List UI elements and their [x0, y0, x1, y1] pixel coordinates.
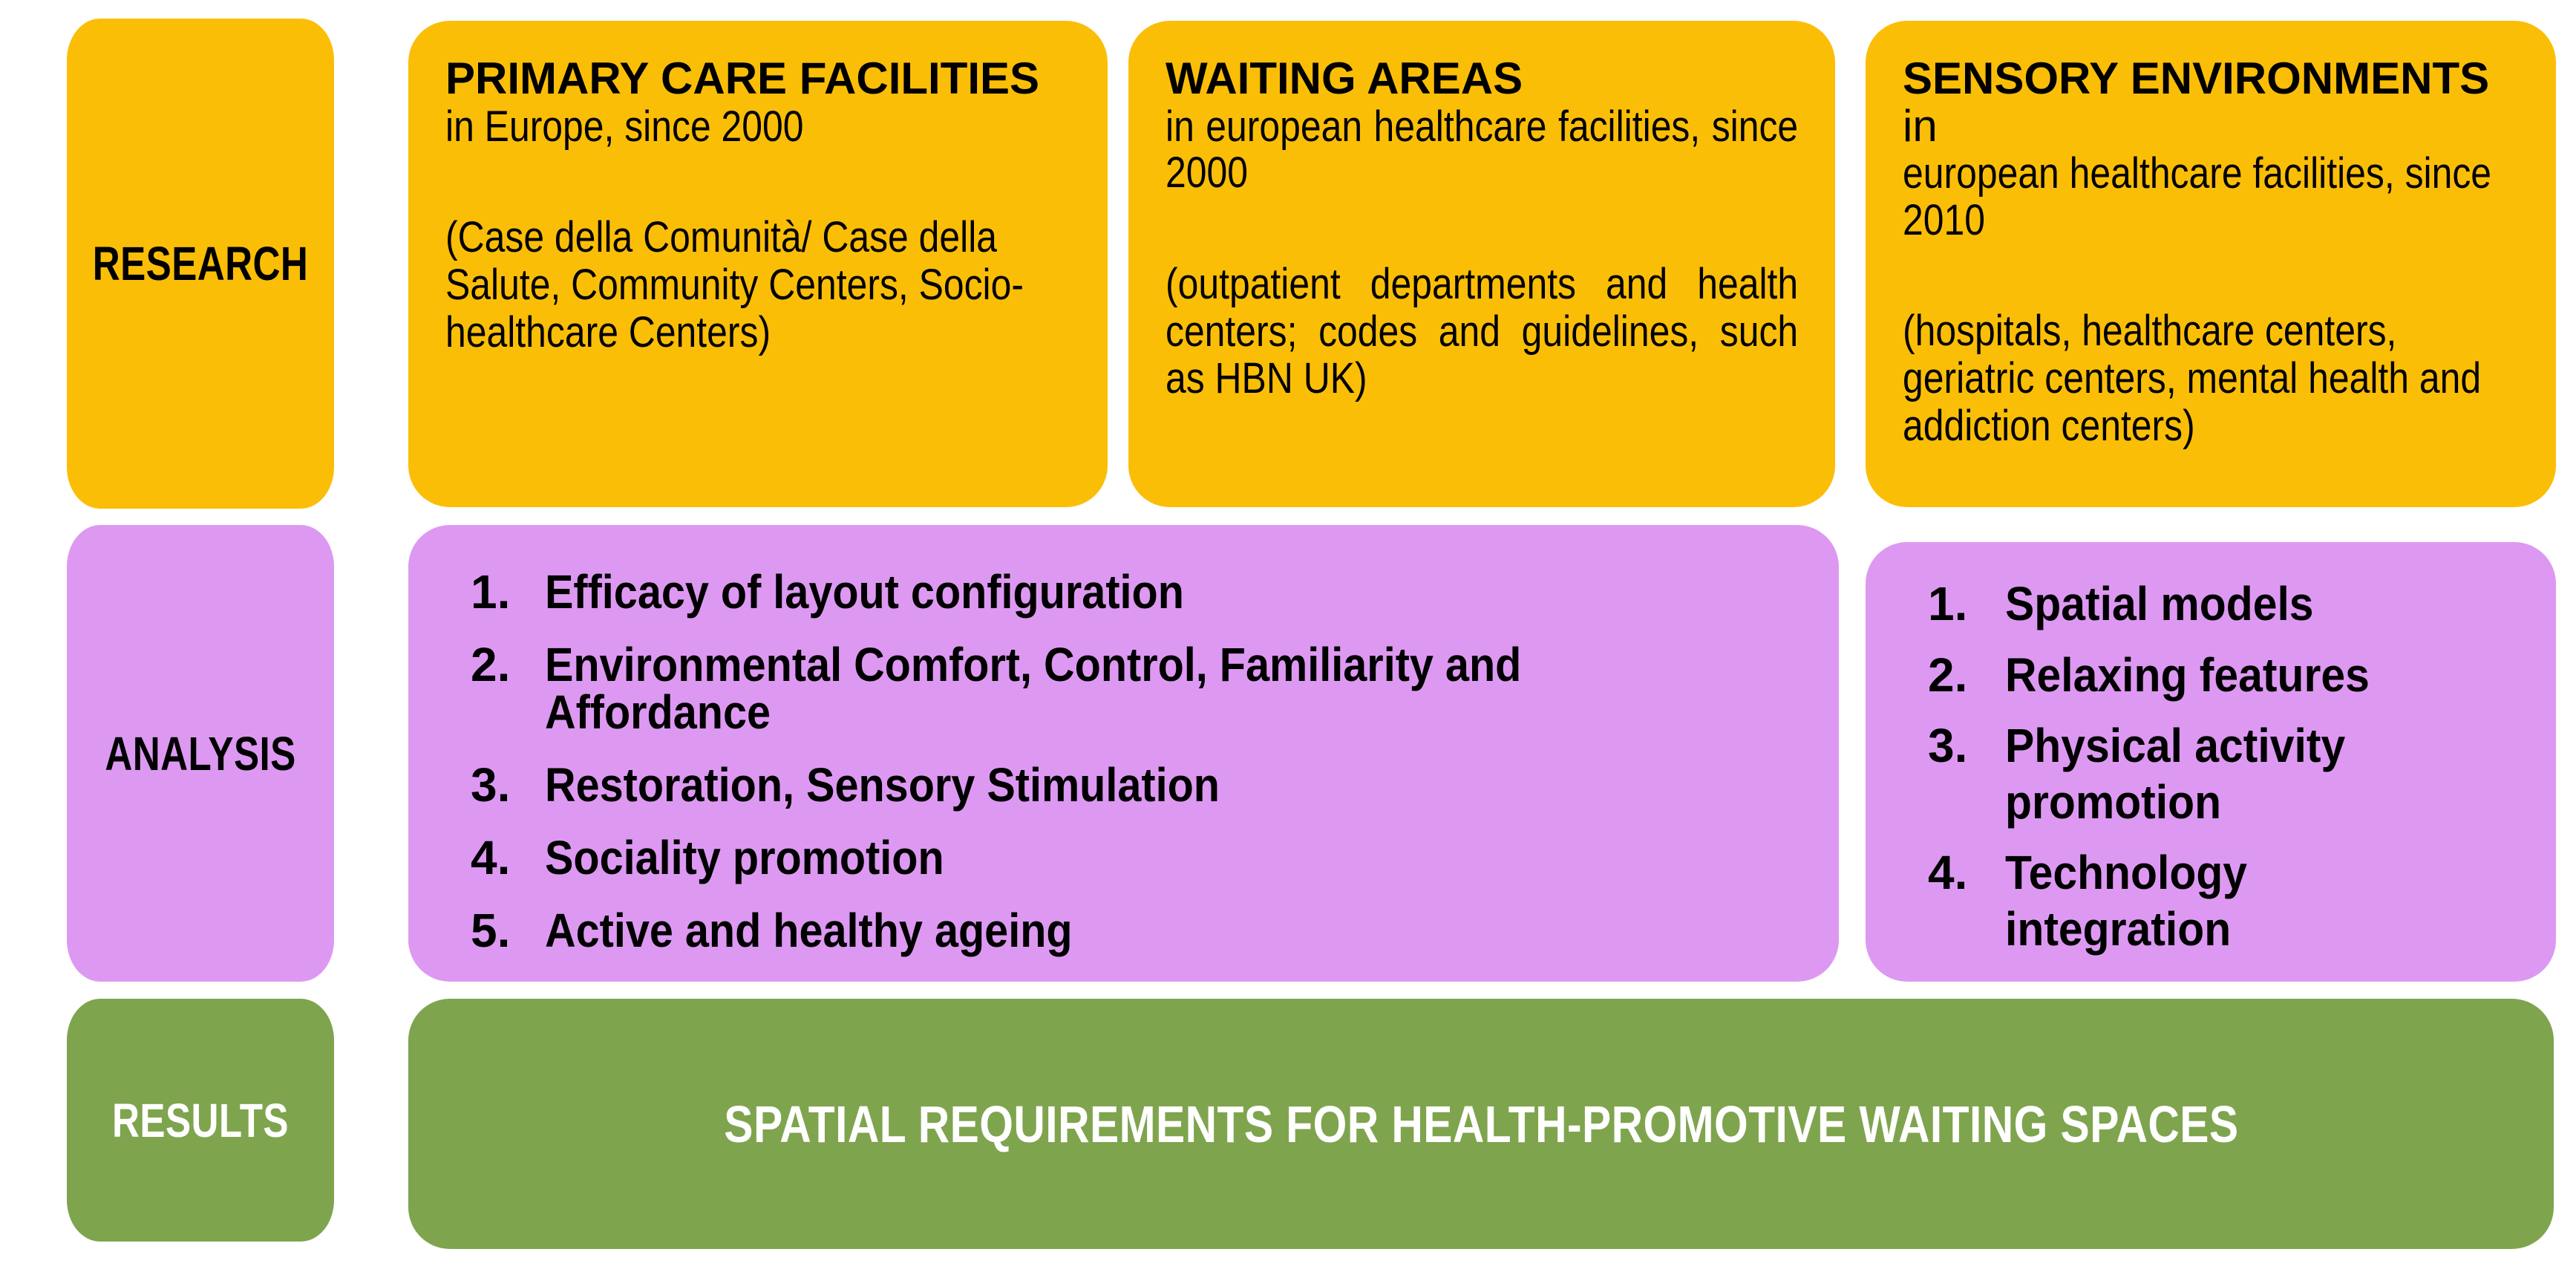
research-subtitle-0: in Europe, since 2000	[445, 104, 1070, 151]
analysis-card-waiting-areas: 1. Efficacy of layout configuration 2. E…	[408, 525, 1839, 982]
list-item-number: 2.	[1928, 648, 2005, 704]
list-item-number: 1.	[471, 568, 545, 616]
stage-label-analysis: ANALYSIS	[67, 525, 334, 982]
research-heading-1: WAITING AREAS	[1166, 55, 1798, 102]
list-item: 3. Physical activity promotion	[1928, 718, 2526, 830]
research-detail-1: (outpatient departments and health cente…	[1166, 261, 1798, 402]
research-card-sensory-environments: SENSORY ENVIRONMENTS in european healthc…	[1866, 21, 2556, 507]
list-item: 4. Technology integration	[1928, 845, 2526, 957]
list-item-number: 4.	[471, 834, 545, 881]
research-detail-0: (Case della Comunità/ Case della Salute,…	[445, 214, 1070, 356]
stage-label-results-text: RESULTS	[112, 1093, 289, 1148]
list-item-number: 5.	[471, 907, 545, 954]
list-item-number: 3.	[1928, 718, 2005, 774]
stage-label-research-text: RESEARCH	[93, 236, 309, 291]
research-detail-2: (hospitals, healthcare centers, geriatri…	[1903, 307, 2519, 449]
list-item-label: Active and healthy ageing	[545, 907, 1670, 954]
stage-label-research: RESEARCH	[67, 19, 334, 509]
list-item-label: Sociality promotion	[545, 834, 1670, 881]
list-item: 1. Efficacy of layout configuration	[471, 568, 1794, 616]
list-item-number: 2.	[471, 641, 545, 688]
process-diagram: RESEARCH PRIMARY CARE FACILITIES in Euro…	[0, 0, 2576, 1272]
list-item-label: Technology integration	[2005, 845, 2485, 957]
analysis-card-sensory-environments: 1. Spatial models 2. Relaxing features 3…	[1866, 542, 2556, 982]
list-item-label: Spatial models	[2005, 576, 2485, 633]
list-item-number: 1.	[1928, 576, 2005, 633]
research-subtitle-1: in european healthcare facilities, since…	[1166, 104, 1798, 197]
research-heading-0: PRIMARY CARE FACILITIES	[445, 55, 1070, 102]
list-item-number: 3.	[471, 761, 545, 809]
research-card-waiting-areas: WAITING AREAS in european healthcare fac…	[1128, 21, 1835, 507]
list-item-label: Relaxing features	[2005, 648, 2485, 704]
list-item-label: Restoration, Sensory Stimulation	[545, 761, 1670, 809]
research-subtitle-2: european healthcare facilities, since 20…	[1903, 151, 2519, 244]
list-item: 5. Active and healthy ageing	[471, 907, 1794, 954]
results-banner-text: SPATIAL REQUIREMENTS FOR HEALTH-PROMOTIV…	[724, 1095, 2238, 1154]
list-item: 2. Relaxing features	[1928, 648, 2526, 704]
list-item-label: Environmental Comfort, Control, Familiar…	[545, 641, 1670, 736]
stage-label-results: RESULTS	[67, 999, 334, 1242]
results-banner: SPATIAL REQUIREMENTS FOR HEALTH-PROMOTIV…	[408, 999, 2554, 1249]
list-item: 1. Spatial models	[1928, 576, 2526, 633]
list-item-label: Physical activity promotion	[2005, 718, 2485, 830]
analysis-narrow-list: 1. Spatial models 2. Relaxing features 3…	[1928, 576, 2526, 957]
research-heading-2: SENSORY ENVIRONMENTS in	[1903, 55, 2519, 149]
list-item: 3. Restoration, Sensory Stimulation	[471, 761, 1794, 809]
list-item-label: Efficacy of layout configuration	[545, 568, 1670, 616]
stage-label-analysis-text: ANALYSIS	[105, 726, 295, 781]
list-item: 2. Environmental Comfort, Control, Famil…	[471, 641, 1794, 736]
list-item-number: 4.	[1928, 845, 2005, 901]
list-item: 4. Sociality promotion	[471, 834, 1794, 881]
research-card-primary-care: PRIMARY CARE FACILITIES in Europe, since…	[408, 21, 1108, 507]
analysis-wide-list: 1. Efficacy of layout configuration 2. E…	[471, 568, 1794, 954]
